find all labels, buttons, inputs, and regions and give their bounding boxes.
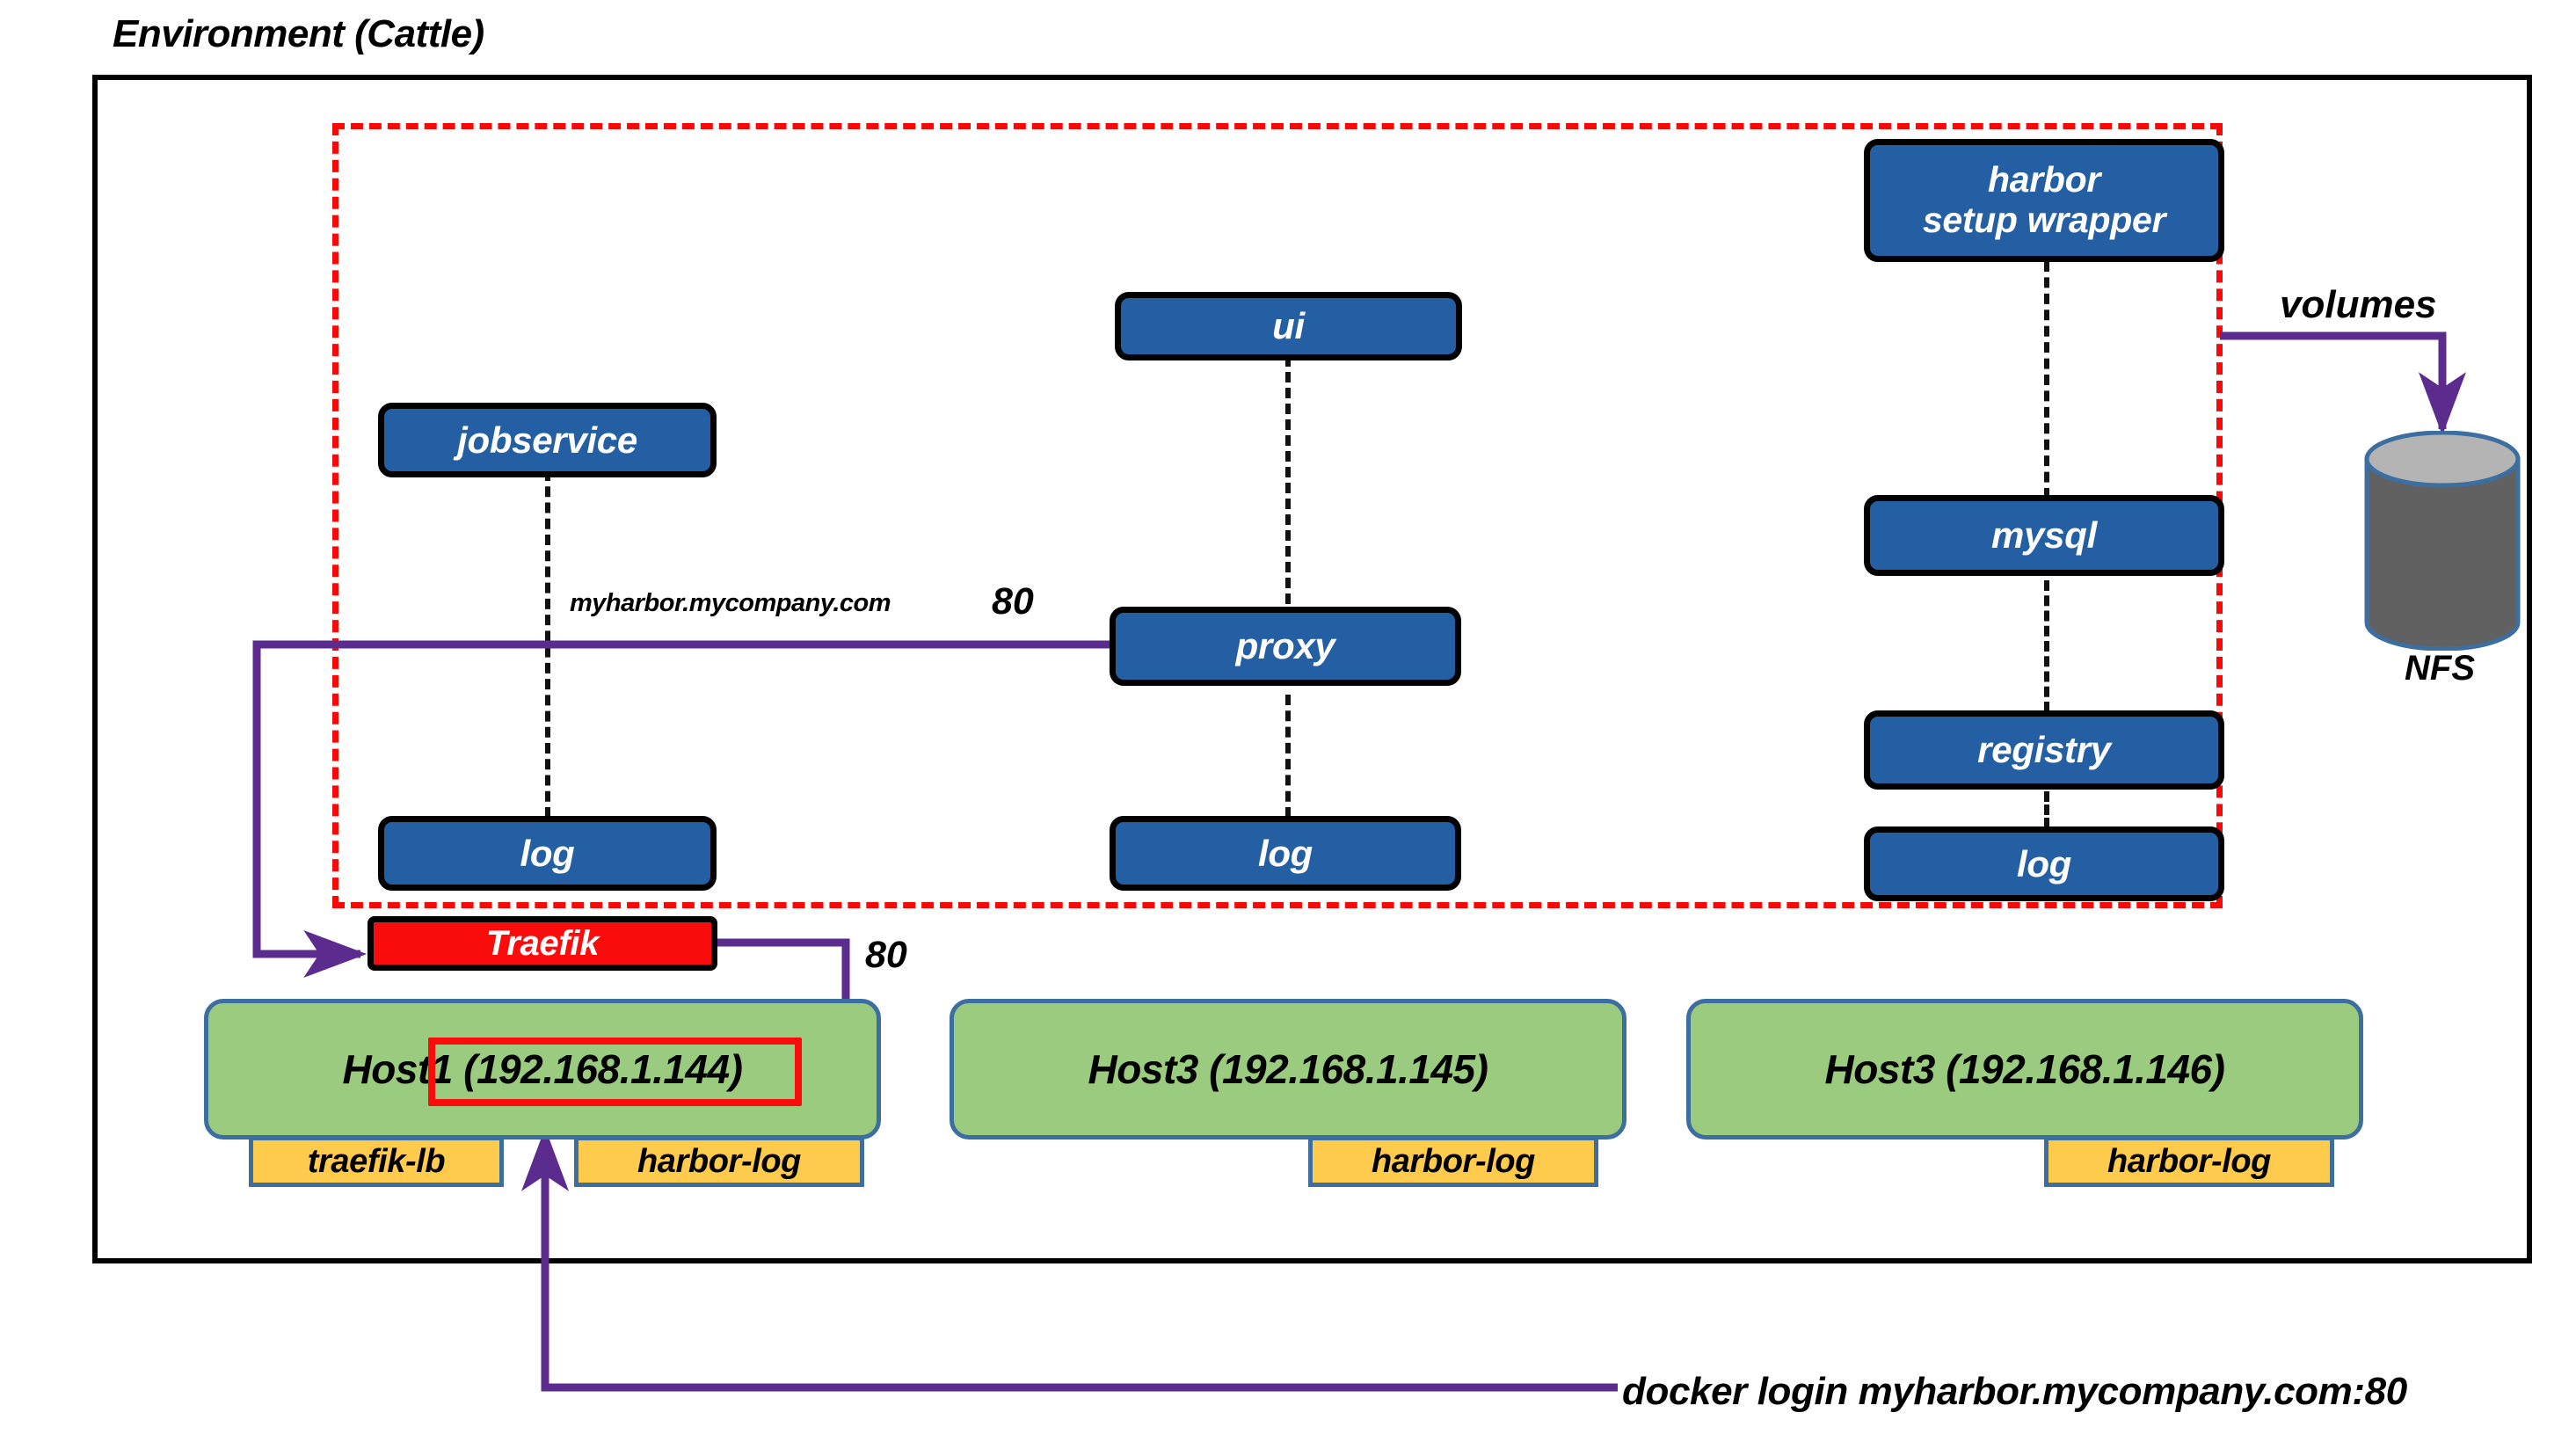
tag-traefik-lb-label: traefik-lb	[308, 1143, 445, 1181]
node-harbor-setup-wrapper[interactable]: harbor setup wrapper	[1864, 139, 2224, 262]
node-log-right-label: log	[2017, 843, 2071, 885]
tag-harbor-log-host1[interactable]: harbor-log	[574, 1136, 864, 1187]
hostname-label: myharbor.mycompany.com	[570, 589, 891, 618]
tag-harbor-log-host3[interactable]: harbor-log	[2044, 1136, 2334, 1187]
port-label-traefik: 80	[865, 934, 907, 977]
node-log-middle-label: log	[1258, 833, 1313, 874]
tag-harbor-log-host2-label: harbor-log	[1372, 1143, 1535, 1181]
link-harbor-mysql	[2044, 261, 2049, 499]
link-registry-log	[2044, 791, 2049, 828]
host2-label: Host3 (192.168.1.145)	[1088, 1045, 1488, 1093]
tag-traefik-lb[interactable]: traefik-lb	[249, 1136, 504, 1187]
tag-harbor-log-host3-label: harbor-log	[2107, 1143, 2271, 1181]
node-traefik-label: Traefik	[486, 924, 599, 964]
tag-harbor-log-host2[interactable]: harbor-log	[1308, 1136, 1598, 1187]
volumes-label: volumes	[2280, 283, 2437, 327]
diagram-canvas: Environment (Cattle) jobservice log ui p…	[0, 0, 2576, 1449]
tag-harbor-log-host1-label: harbor-log	[637, 1143, 801, 1181]
nfs-label: NFS	[2405, 649, 2475, 688]
node-harbor-setup-line2: setup wrapper	[1923, 200, 2165, 241]
link-ui-proxy	[1285, 356, 1291, 620]
host3-label: Host3 (192.168.1.146)	[1825, 1045, 2225, 1093]
link-jobservice-log	[545, 470, 550, 818]
node-harbor-setup-line1: harbor	[1988, 160, 2100, 200]
node-proxy[interactable]: proxy	[1110, 607, 1461, 686]
port-label-proxy: 80	[992, 580, 1034, 623]
node-ui[interactable]: ui	[1115, 292, 1462, 360]
node-registry[interactable]: registry	[1864, 710, 2224, 790]
link-proxy-log	[1285, 695, 1291, 818]
link-mysql-registry	[2044, 580, 2049, 712]
node-traefik[interactable]: Traefik	[367, 916, 717, 971]
node-jobservice[interactable]: jobservice	[378, 403, 717, 477]
node-registry-label: registry	[1977, 729, 2111, 770]
node-proxy-label: proxy	[1236, 625, 1335, 666]
host1-ip-highlight	[428, 1038, 802, 1106]
node-log-right[interactable]: log	[1864, 826, 2224, 901]
host-box-host3[interactable]: Host3 (192.168.1.146)	[1686, 999, 2363, 1140]
environment-title: Environment (Cattle)	[113, 12, 484, 56]
host-box-host2[interactable]: Host3 (192.168.1.145)	[950, 999, 1626, 1140]
node-jobservice-label: jobservice	[457, 419, 637, 461]
node-log-left[interactable]: log	[378, 816, 717, 891]
nfs-cylinder-icon	[2363, 431, 2521, 651]
node-log-left-label: log	[520, 833, 574, 874]
node-mysql-label: mysql	[1991, 514, 2097, 556]
node-ui-label: ui	[1272, 305, 1305, 346]
node-log-middle[interactable]: log	[1110, 816, 1461, 891]
docker-login-caption: docker login myharbor.mycompany.com:80	[1622, 1370, 2407, 1414]
node-mysql[interactable]: mysql	[1864, 495, 2224, 576]
